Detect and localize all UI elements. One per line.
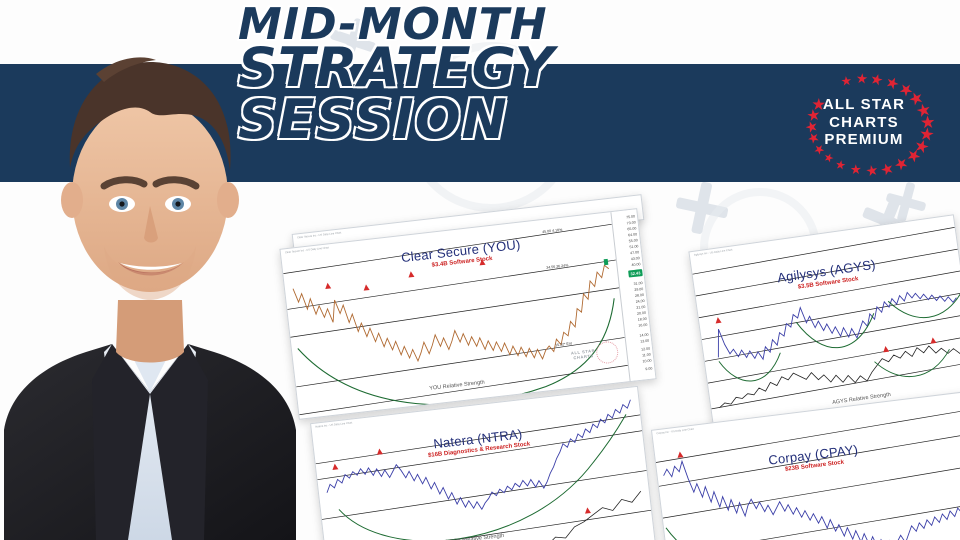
logo-star-icon: ★ (839, 75, 854, 89)
axis-tick: 11.00 (642, 353, 651, 358)
axis-tick: 55.00 (629, 238, 638, 243)
axis-tick: 21.00 (636, 305, 645, 310)
chart-card-corpay[interactable]: Corpay Inc - US Daily Line Chart Corpay … (651, 391, 960, 540)
chart-micro-header: Clear Secure Inc - US Daily Line Chart (297, 231, 341, 239)
axis-tick: 29.00 (634, 287, 643, 292)
sell-signal-markers (677, 451, 684, 458)
neck (116, 300, 184, 363)
axis-tick: 28.00 (635, 293, 644, 298)
pupil-left (119, 201, 124, 206)
axis-tick: 65.00 (627, 226, 636, 231)
sell-signal-markers (584, 507, 591, 514)
trendline-arc (719, 353, 784, 385)
logo-text: ALL STAR CHARTS PREMIUM (808, 96, 920, 149)
presenter-photo (0, 0, 300, 540)
all-star-charts-logo: ★★★★★★★★★★★★★★★★★★★★★★ ALL STAR CHARTS P… (802, 72, 942, 176)
axis-tick: 43.00 (631, 256, 640, 261)
axis-tick: 14.00 (639, 333, 648, 338)
ear-left (61, 182, 83, 218)
logo-star-icon: ★ (848, 162, 864, 178)
pupil-right (175, 201, 180, 206)
axis-tick: 18.00 (638, 317, 647, 322)
sell-signal-markers (715, 317, 722, 324)
axis-tick: 31.00 (633, 281, 642, 286)
axis-tick: 64.00 (628, 232, 637, 237)
axis-tick: 9.00 (645, 366, 652, 371)
axis-tick: 16.00 (638, 323, 647, 328)
axis-tick: 73.00 (627, 220, 636, 225)
logo-line-3: PREMIUM (808, 131, 920, 149)
latest-bar (604, 259, 609, 265)
axis-tick: 51.00 (629, 244, 638, 249)
title-line-2: STRATEGY SESSION (238, 42, 818, 146)
axis-tick: 12.00 (641, 347, 650, 352)
page-title: MID-MONTH STRATEGY SESSION (238, 4, 818, 146)
slide-canvas: Clear Secure Inc - US Daily Line Chart C… (0, 0, 960, 540)
face (72, 100, 228, 292)
current-price-badge: 32.43 (628, 269, 643, 278)
logo-line-2: CHARTS (808, 114, 920, 132)
axis-tick: 47.00 (630, 250, 639, 255)
axis-tick: 24.00 (635, 299, 644, 304)
axis-tick: 13.00 (640, 339, 649, 344)
axis-tick: 20.00 (637, 311, 646, 316)
ear-right (217, 182, 239, 218)
logo-star-icon: ★ (834, 159, 848, 172)
axis-tick: 75.00 (626, 214, 635, 219)
axis-tick: 40.00 (631, 262, 640, 267)
axis-tick: 10.00 (642, 359, 651, 364)
sell-signal-markers (882, 337, 937, 352)
logo-line-1: ALL STAR (808, 96, 920, 114)
